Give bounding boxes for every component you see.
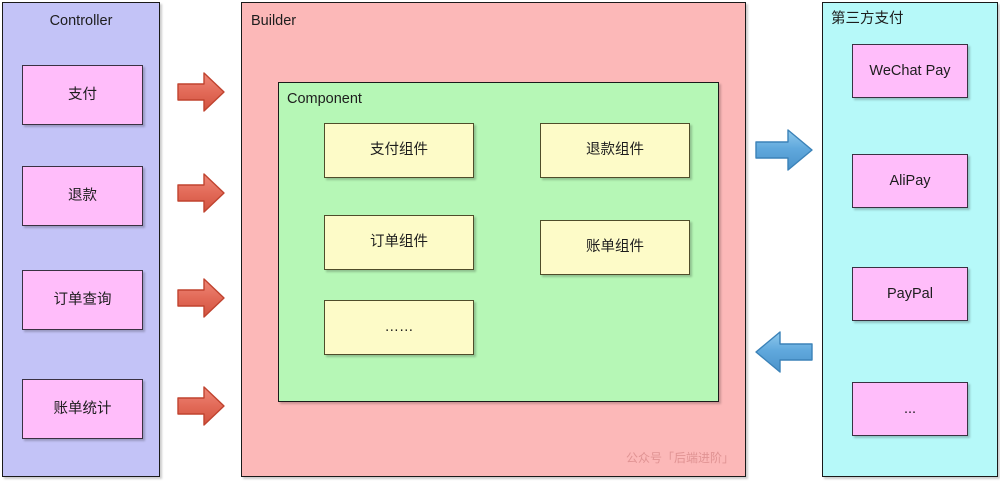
diagram-canvas: Controller 支付 退款 订单查询 账单统计 bbox=[0, 0, 1000, 481]
controller-item-order-query[interactable]: 订单查询 bbox=[22, 270, 143, 330]
controller-item-order-query-label: 订单查询 bbox=[54, 293, 112, 308]
controller-panel: Controller 支付 退款 订单查询 账单统计 bbox=[2, 2, 160, 477]
thirdparty-item-paypal[interactable]: PayPal bbox=[852, 267, 968, 321]
arrow-refund-icon bbox=[177, 172, 225, 214]
controller-item-refund-label: 退款 bbox=[68, 189, 97, 204]
controller-item-refund[interactable]: 退款 bbox=[22, 166, 143, 226]
component-item-refund[interactable]: 退款组件 bbox=[540, 123, 690, 178]
arrow-bill-stats-icon bbox=[177, 385, 225, 427]
controller-item-pay[interactable]: 支付 bbox=[22, 65, 143, 125]
component-box: Component 支付组件 退款组件 订单组件 账单组件 …… bbox=[278, 82, 719, 402]
watermark-text: 公众号「后端进阶」 bbox=[626, 452, 734, 464]
thirdparty-item-more[interactable]: ... bbox=[852, 382, 968, 436]
component-item-more[interactable]: …… bbox=[324, 300, 474, 355]
thirdparty-item-more-label: ... bbox=[904, 402, 916, 417]
component-box-title: Component bbox=[287, 92, 362, 107]
builder-panel: Builder Component 支付组件 退款组件 订单组件 账单组件 ……… bbox=[241, 2, 746, 477]
controller-panel-title: Controller bbox=[3, 14, 159, 29]
thirdparty-item-paypal-label: PayPal bbox=[887, 287, 933, 302]
component-item-refund-label: 退款组件 bbox=[586, 143, 644, 158]
arrow-pay-icon bbox=[177, 71, 225, 113]
thirdparty-panel-title: 第三方支付 bbox=[831, 12, 904, 27]
component-item-order-label: 订单组件 bbox=[370, 235, 428, 250]
component-item-bill[interactable]: 账单组件 bbox=[540, 220, 690, 275]
thirdparty-panel: 第三方支付 WeChat Pay AliPay PayPal ... bbox=[822, 2, 998, 477]
arrow-response-icon bbox=[755, 330, 813, 374]
arrow-request-icon bbox=[755, 128, 813, 172]
controller-item-bill-stats-label: 账单统计 bbox=[54, 402, 112, 417]
component-item-bill-label: 账单组件 bbox=[586, 240, 644, 255]
component-item-order[interactable]: 订单组件 bbox=[324, 215, 474, 270]
controller-item-bill-stats[interactable]: 账单统计 bbox=[22, 379, 143, 439]
thirdparty-item-wechat-pay-label: WeChat Pay bbox=[869, 64, 950, 79]
thirdparty-item-alipay-label: AliPay bbox=[889, 174, 930, 189]
thirdparty-item-alipay[interactable]: AliPay bbox=[852, 154, 968, 208]
component-item-more-label: …… bbox=[385, 320, 414, 335]
component-item-pay-label: 支付组件 bbox=[370, 143, 428, 158]
component-item-pay[interactable]: 支付组件 bbox=[324, 123, 474, 178]
arrow-order-query-icon bbox=[177, 277, 225, 319]
builder-panel-title: Builder bbox=[251, 14, 296, 29]
thirdparty-item-wechat-pay[interactable]: WeChat Pay bbox=[852, 44, 968, 98]
controller-item-pay-label: 支付 bbox=[68, 88, 97, 103]
